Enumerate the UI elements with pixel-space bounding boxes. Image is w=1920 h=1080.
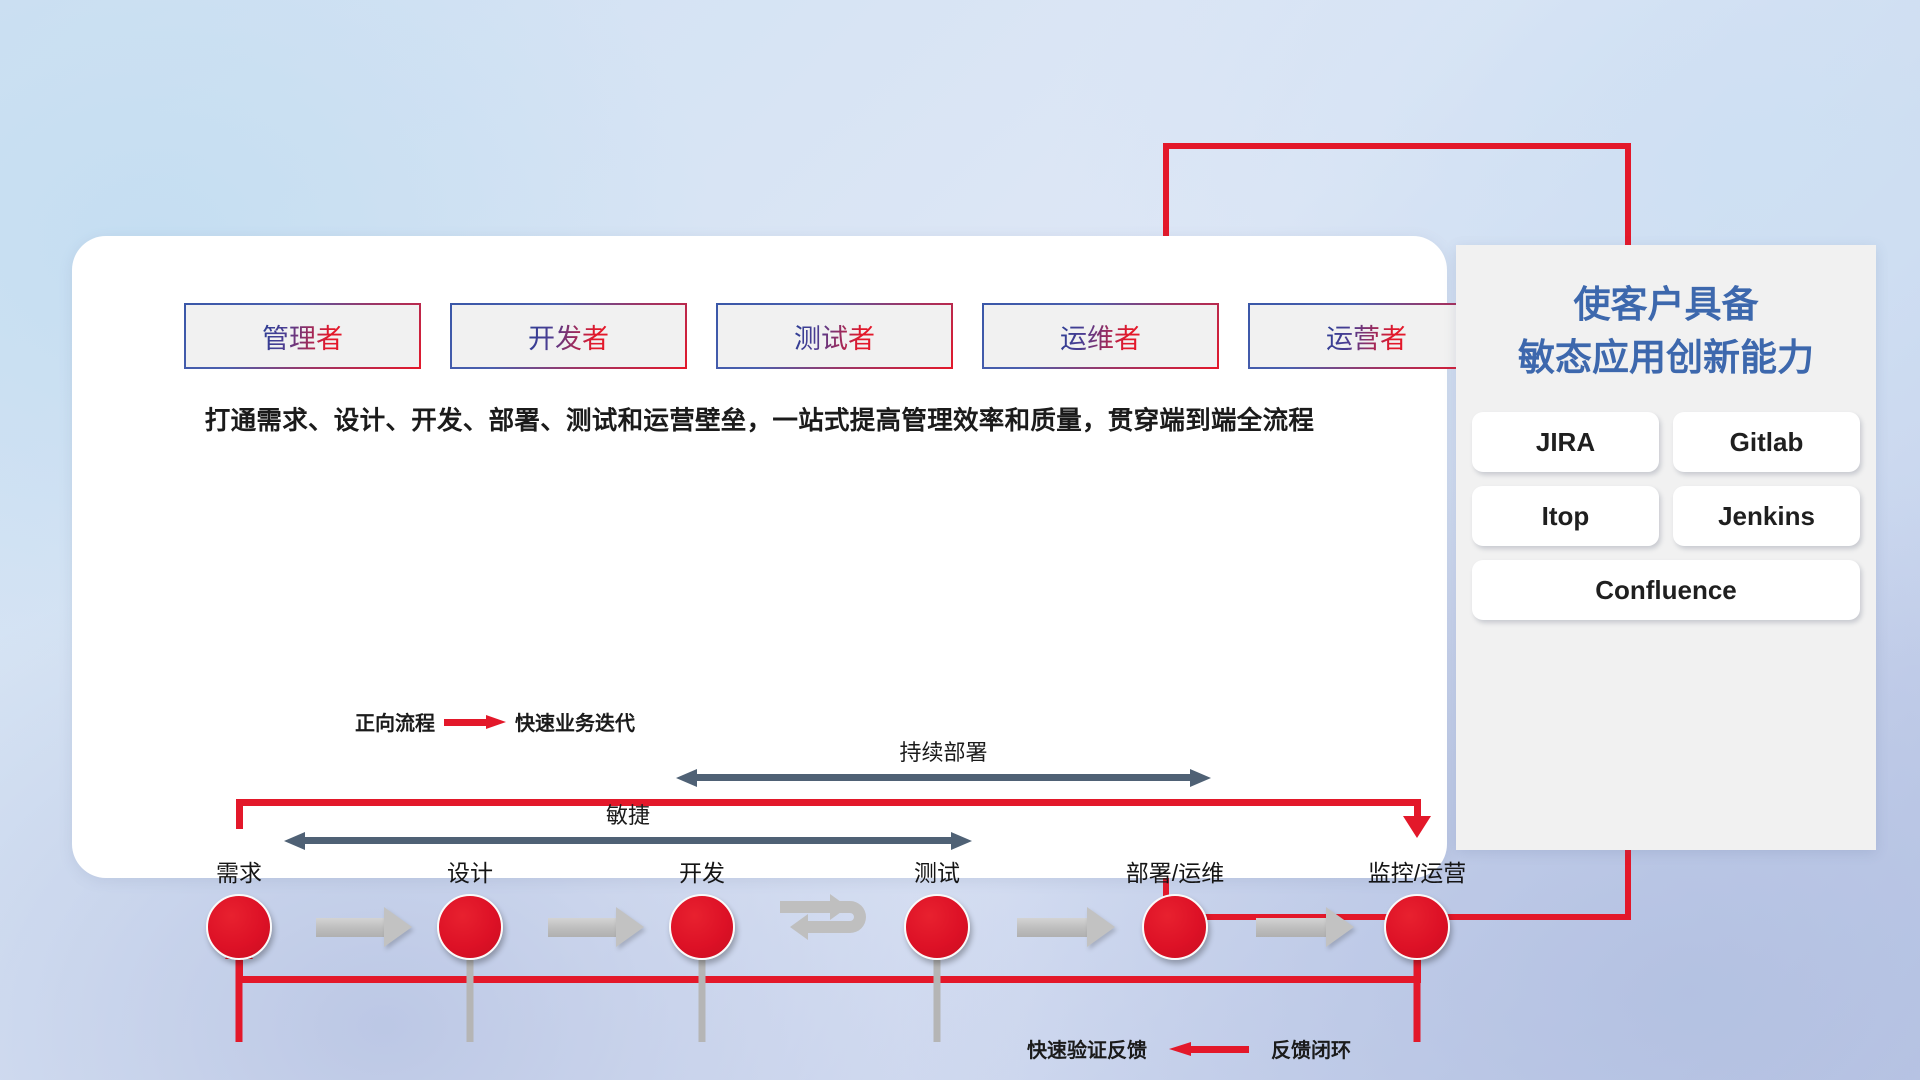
stage-stem <box>1414 954 1421 1042</box>
connector-arrow-design-to-development <box>548 907 645 947</box>
arrow-shaft <box>548 918 618 937</box>
arrow-head-left-icon <box>284 832 305 850</box>
stage-label: 设计 <box>447 854 493 888</box>
role-box-tester[interactable]: 测试者 <box>716 303 953 369</box>
legend-feedback-right-label: 反馈闭环 <box>1271 1034 1351 1063</box>
arrow-bar <box>695 774 1192 781</box>
span-label: 敏捷 <box>284 798 972 830</box>
description-text: 打通需求、设计、开发、部署、测试和运营壁垒，一站式提高管理效率和质量，贯穿端到端… <box>72 400 1447 437</box>
span-label: 持续部署 <box>676 735 1211 767</box>
tool-chip-label: JIRA <box>1536 427 1595 458</box>
arrow-head-right-icon <box>384 907 412 947</box>
tool-chip-label: Jenkins <box>1718 501 1815 532</box>
connector-loop-development-testing <box>778 891 874 959</box>
devops-overview-card: 管理者 开发者 测试者 运维者 运营者 打通需求、设计、开发、部署、测试和运营壁… <box>72 236 1447 878</box>
arrow-right-red-icon <box>444 715 506 729</box>
role-label: 开发者 <box>528 317 609 356</box>
stage-dot <box>904 894 970 960</box>
arrow-head-right-icon <box>1190 769 1211 787</box>
connector-arrow-requirements-to-design <box>316 907 413 947</box>
panel-title-line2: 敏态应用创新能力 <box>1456 332 1876 385</box>
value-proposition-panel: 使客户具备 敏态应用创新能力 JIRA Gitlab Itop Jenkins … <box>1456 245 1876 850</box>
arrow-head-left-icon <box>676 769 697 787</box>
stage-dot <box>437 894 503 960</box>
stage-dot <box>206 894 272 960</box>
stage-dot <box>1384 894 1450 960</box>
arrow-head-right-icon <box>951 832 972 850</box>
role-label: 测试者 <box>794 317 875 356</box>
legend-feedback-loop: 快速验证反馈 反馈闭环 <box>1027 1034 1351 1063</box>
tool-chip-list: JIRA Gitlab Itop Jenkins Confluence <box>1472 412 1860 620</box>
loop-top-left-riser <box>236 799 243 829</box>
panel-title-line1: 使客户具备 <box>1456 279 1876 332</box>
span-arrow-agile: 敏捷 <box>284 832 972 850</box>
legend-forward-left-label: 正向流程 <box>355 707 435 736</box>
role-label: 运维者 <box>1060 317 1141 356</box>
arrow-head-right-icon <box>1087 907 1115 947</box>
tool-chip-label: Itop <box>1542 501 1590 532</box>
stage-label: 部署/运维 <box>1126 854 1224 888</box>
stage-label: 需求 <box>216 854 262 888</box>
legend-forward-flow: 正向流程 快速业务迭代 <box>355 707 635 736</box>
stage-label: 测试 <box>914 854 960 888</box>
panel-title: 使客户具备 敏态应用创新能力 <box>1456 279 1876 384</box>
legend-forward-right-label: 快速业务迭代 <box>515 707 635 736</box>
stage-stem <box>934 954 941 1042</box>
legend-feedback-left-label: 快速验证反馈 <box>1027 1034 1147 1063</box>
role-box-ops-engineer[interactable]: 运维者 <box>982 303 1219 369</box>
arrow-left-red-icon <box>1169 1042 1249 1056</box>
arrow-shaft <box>316 918 386 937</box>
tool-chip-label: Confluence <box>1595 575 1737 606</box>
stage-stem <box>699 954 706 1042</box>
tool-chip-label: Gitlab <box>1730 427 1804 458</box>
arrow-head-right-icon <box>1326 907 1354 947</box>
arrow-shaft <box>1256 918 1328 937</box>
span-arrow-continuous-deployment: 持续部署 <box>676 769 1211 787</box>
tool-chip-jira[interactable]: JIRA <box>1472 412 1659 472</box>
role-label: 运营者 <box>1326 317 1407 356</box>
connector-arrow-deploy-to-monitor <box>1256 907 1356 947</box>
arrow-head-right-icon <box>616 907 644 947</box>
role-box-developer[interactable]: 开发者 <box>450 303 687 369</box>
stage-label: 监控/运营 <box>1368 854 1466 888</box>
tool-chip-itop[interactable]: Itop <box>1472 486 1659 546</box>
tool-chip-confluence[interactable]: Confluence <box>1472 560 1860 620</box>
loop-bottom-bar <box>236 976 1421 983</box>
stage-dot <box>1142 894 1208 960</box>
tool-chip-jenkins[interactable]: Jenkins <box>1673 486 1860 546</box>
stage-dot <box>669 894 735 960</box>
tool-chip-gitlab[interactable]: Gitlab <box>1673 412 1860 472</box>
arrow-shaft <box>1017 918 1089 937</box>
loop-arrow-head-down-icon <box>1403 816 1431 838</box>
role-boxes-row: 管理者 开发者 测试者 运维者 运营者 <box>184 303 1485 369</box>
role-box-operator[interactable]: 运营者 <box>1248 303 1485 369</box>
role-label: 管理者 <box>262 317 343 356</box>
connector-arrow-testing-to-deploy <box>1017 907 1117 947</box>
role-box-manager[interactable]: 管理者 <box>184 303 421 369</box>
stage-stem <box>467 954 474 1042</box>
stage-stem <box>236 954 243 1042</box>
uturn-arrow-icon <box>778 891 874 959</box>
stage-label: 开发 <box>679 854 725 888</box>
arrow-bar <box>303 837 953 844</box>
